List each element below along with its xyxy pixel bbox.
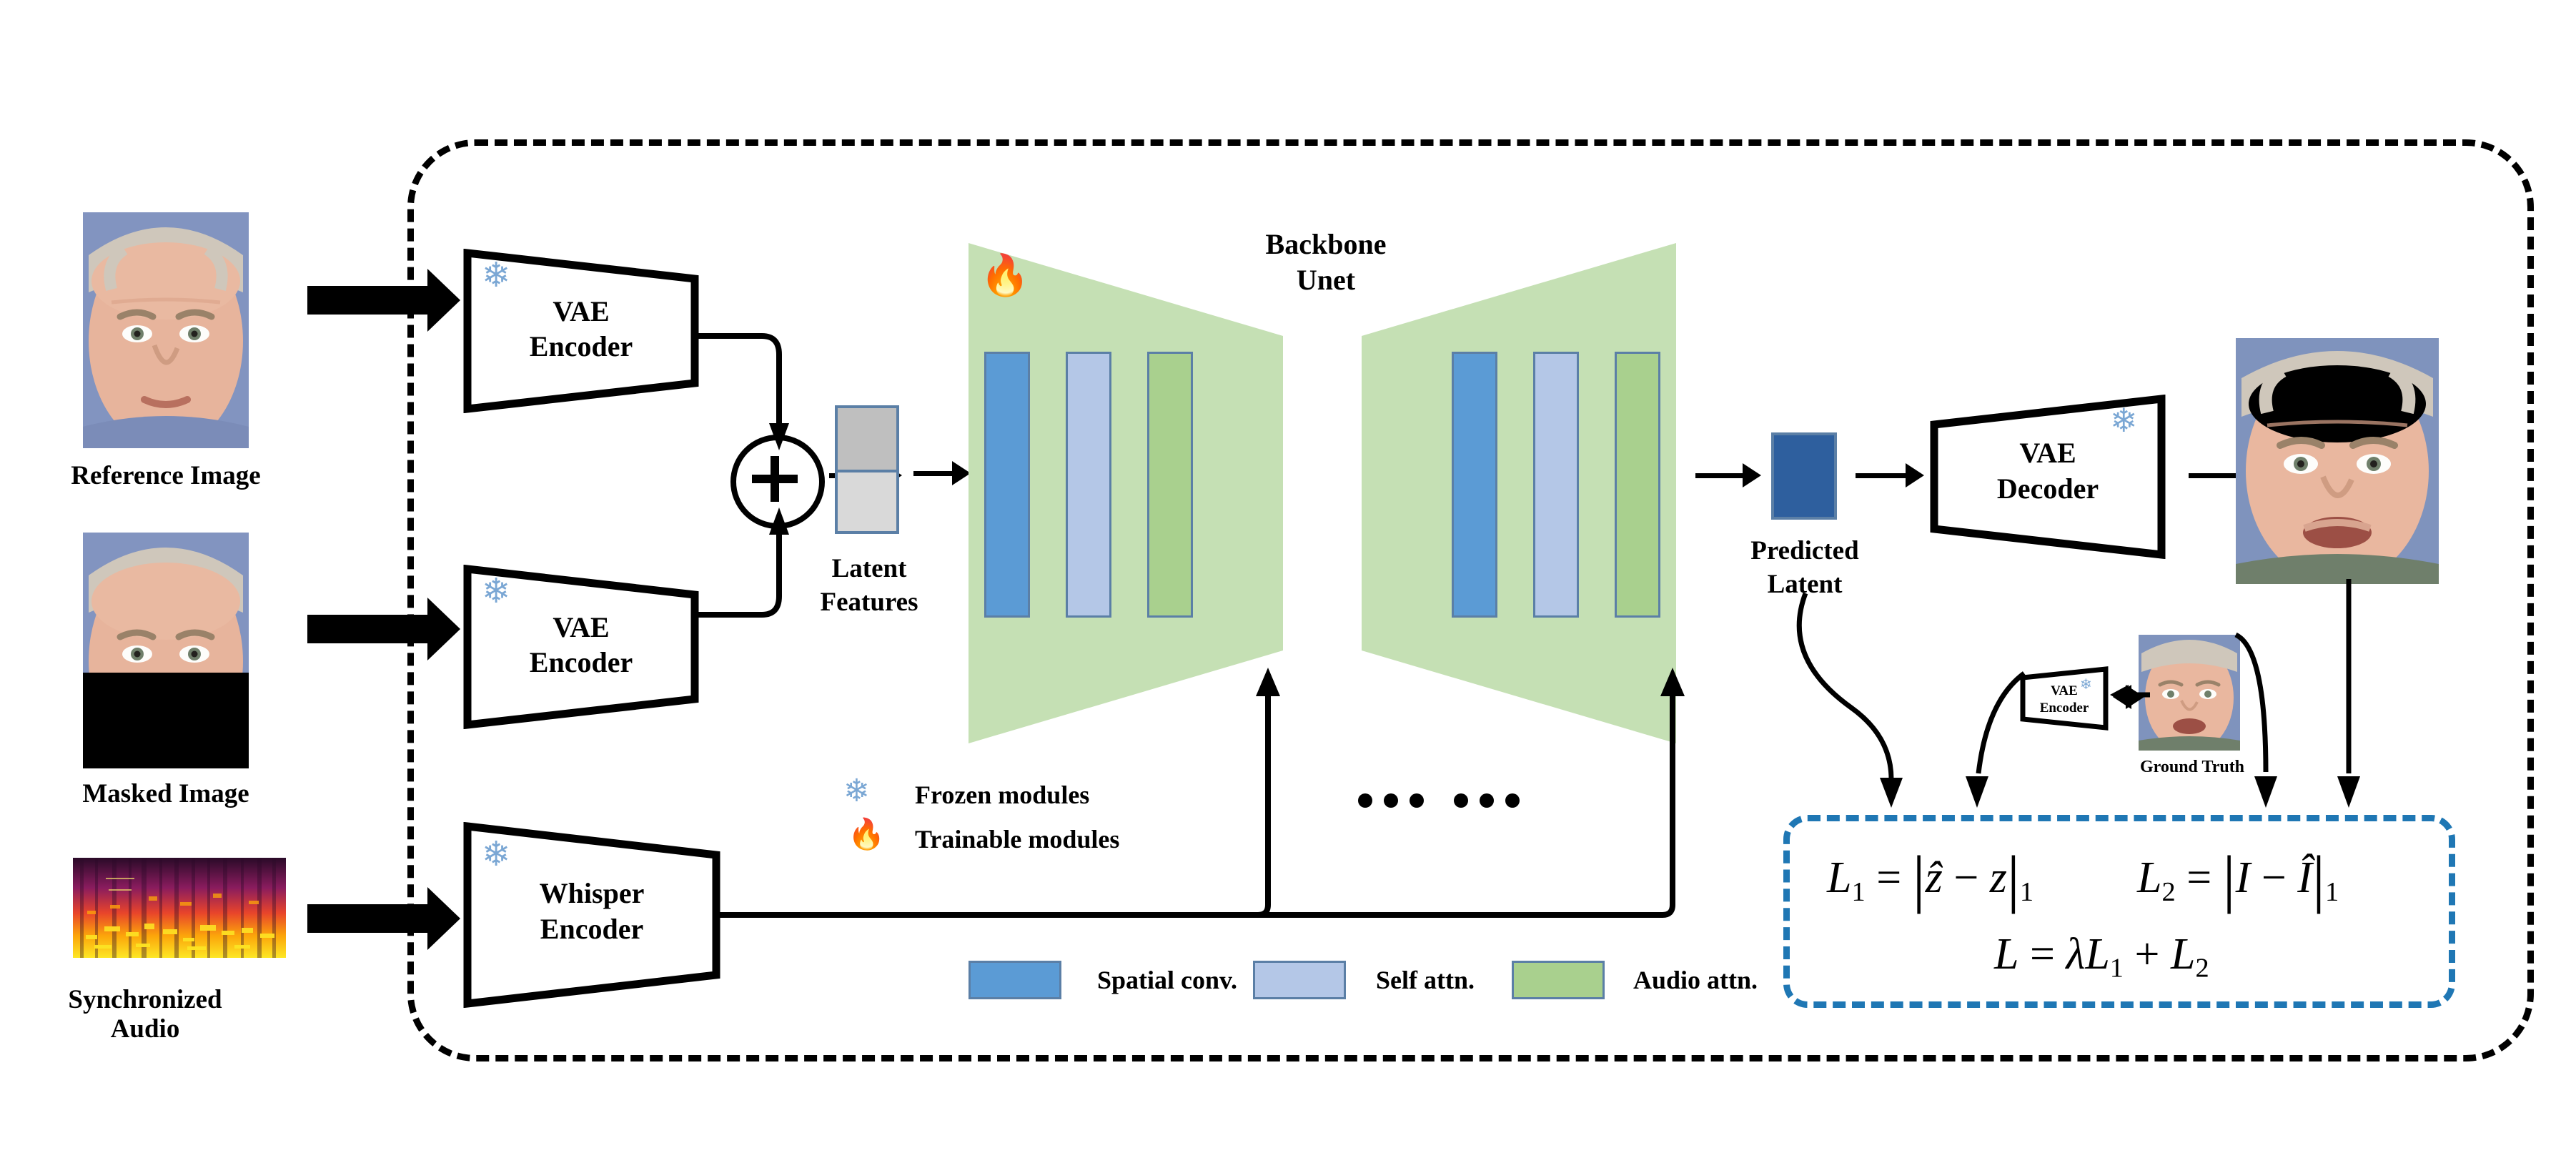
total-L1: L xyxy=(2085,930,2109,979)
audio-spectrogram-thumbnail xyxy=(73,858,286,958)
total-L2: L xyxy=(2171,930,2195,979)
loss-l2-rendered: L2 = |I − Î|1 xyxy=(2137,842,2339,916)
l2-symbol: L xyxy=(2137,853,2161,902)
unet-block-spatial-conv xyxy=(1452,352,1497,618)
reference-image-thumbnail xyxy=(83,212,249,448)
flame-icon: 🔥 xyxy=(980,256,1030,296)
unet-block-self-attn xyxy=(1533,352,1579,618)
vae-encoder-top[interactable]: ❄ VAE Encoder xyxy=(463,249,699,413)
legend-swatch-audio-attn xyxy=(1512,961,1605,999)
masked-image-label: Masked Image xyxy=(26,779,306,808)
predicted-latent-to-decoder-arrow xyxy=(1856,473,1908,478)
vae-decoder-line1: VAE xyxy=(1930,437,2166,470)
l1-norm-order: 1 xyxy=(2020,877,2033,907)
vae-encoder-bottom-line2: Encoder xyxy=(463,647,699,679)
snowflake-icon: ❄ xyxy=(843,776,870,807)
legend-swatch-self-attn xyxy=(1253,961,1346,999)
vae-encoder-bottom-line1: VAE xyxy=(463,612,699,644)
plus-vertical xyxy=(771,456,779,502)
latent-to-unet-arrow xyxy=(913,471,955,476)
legend-swatch-spatial-conv xyxy=(969,961,1061,999)
l1-equals: = xyxy=(1876,853,1912,902)
mel-spectrogram xyxy=(73,858,286,958)
l1-abs-close: | xyxy=(2007,843,2020,914)
l1-zhat: ẑ xyxy=(1926,853,1943,902)
total-L1-sub: 1 xyxy=(2110,954,2124,984)
snowflake-icon: ❄ xyxy=(482,259,510,293)
block-legend: Spatial conv. Self attn. Audio attn. xyxy=(969,958,1769,1005)
vae-encoder-top-line1: VAE xyxy=(463,296,699,328)
face-photo-reference xyxy=(83,212,249,448)
loss-connector-wires xyxy=(1773,593,2487,829)
predicted-latent-block xyxy=(1771,432,1837,520)
total-plus: + xyxy=(2135,930,2171,979)
flame-icon: 🔥 xyxy=(848,820,885,850)
snowflake-icon: ❄ xyxy=(2110,405,2138,437)
l2-I: I xyxy=(2236,853,2251,902)
l1-subscript: 1 xyxy=(1851,877,1865,907)
reference-image-label: Reference Image xyxy=(26,461,306,490)
l2-minus: − xyxy=(2262,853,2297,902)
vae-decoder-line2: Decoder xyxy=(1930,473,2166,505)
l2-Ihat: Î xyxy=(2297,853,2312,902)
total-L: L xyxy=(1994,930,2018,979)
unet-block-self-attn xyxy=(1066,352,1111,618)
l2-subscript: 2 xyxy=(2161,877,2175,907)
l2-abs-close: | xyxy=(2312,843,2325,914)
latent-bottom-half xyxy=(838,470,896,531)
legend-trainable-label: Trainable modules xyxy=(915,824,1119,854)
latent-features-line1: Latent xyxy=(785,554,953,583)
snowflake-icon: ❄ xyxy=(482,575,510,609)
reference-input-arrow xyxy=(307,286,429,315)
vae-encoder-bottom[interactable]: ❄ VAE Encoder xyxy=(463,565,699,729)
latent-features-block xyxy=(835,405,899,534)
latent-features-line2: Features xyxy=(785,588,953,617)
sum-operator xyxy=(730,435,825,529)
face-photo-masked xyxy=(83,533,249,768)
latent-top-half xyxy=(838,408,896,470)
l2-norm-order: 1 xyxy=(2325,877,2339,907)
masked-image-thumbnail xyxy=(83,533,249,768)
generated-output-thumbnail xyxy=(2236,338,2439,584)
unet-block-audio-attn xyxy=(1147,352,1193,618)
total-lambda: λ xyxy=(2066,930,2085,979)
snowflake-icon: ❄ xyxy=(482,838,510,872)
total-L2-sub: 2 xyxy=(2195,954,2209,984)
face-photo-generated xyxy=(2236,338,2439,584)
l1-minus: − xyxy=(1953,853,1989,902)
l1-z: z xyxy=(1990,853,2007,902)
loss-l1-rendered: L1 = |ẑ − z|1 xyxy=(1827,842,2033,916)
legend-spatial-conv-label: Spatial conv. xyxy=(1097,965,1237,995)
whisper-encoder-line2: Encoder xyxy=(470,914,713,946)
legend-self-attn-label: Self attn. xyxy=(1376,965,1475,995)
whisper-encoder[interactable]: ❄ Whisper Encoder xyxy=(463,822,720,1008)
legend-audio-attn-label: Audio attn. xyxy=(1633,965,1758,995)
loss-total-rendered: L = λL1 + L2 xyxy=(1994,929,2209,984)
vae-decoder[interactable]: ❄ VAE Decoder xyxy=(1930,395,2166,559)
unet-to-predicted-latent-arrow xyxy=(1695,473,1745,478)
audio-input-label: Synchronized Audio xyxy=(41,985,249,1044)
audio-input-arrow xyxy=(307,904,429,933)
l1-abs-open: | xyxy=(1913,843,1926,914)
masked-input-arrow xyxy=(307,615,429,643)
l2-abs-open: | xyxy=(2223,843,2236,914)
whisper-encoder-line1: Whisper xyxy=(470,878,713,910)
unet-block-spatial-conv xyxy=(984,352,1030,618)
legend-frozen-label: Frozen modules xyxy=(915,780,1089,810)
unet-block-audio-attn xyxy=(1615,352,1660,618)
l1-symbol: L xyxy=(1827,853,1851,902)
total-equals: = xyxy=(2030,930,2066,979)
vae-encoder-top-line2: Encoder xyxy=(463,331,699,363)
l2-equals: = xyxy=(2186,853,2222,902)
predicted-latent-line1: Predicted xyxy=(1715,536,1894,565)
